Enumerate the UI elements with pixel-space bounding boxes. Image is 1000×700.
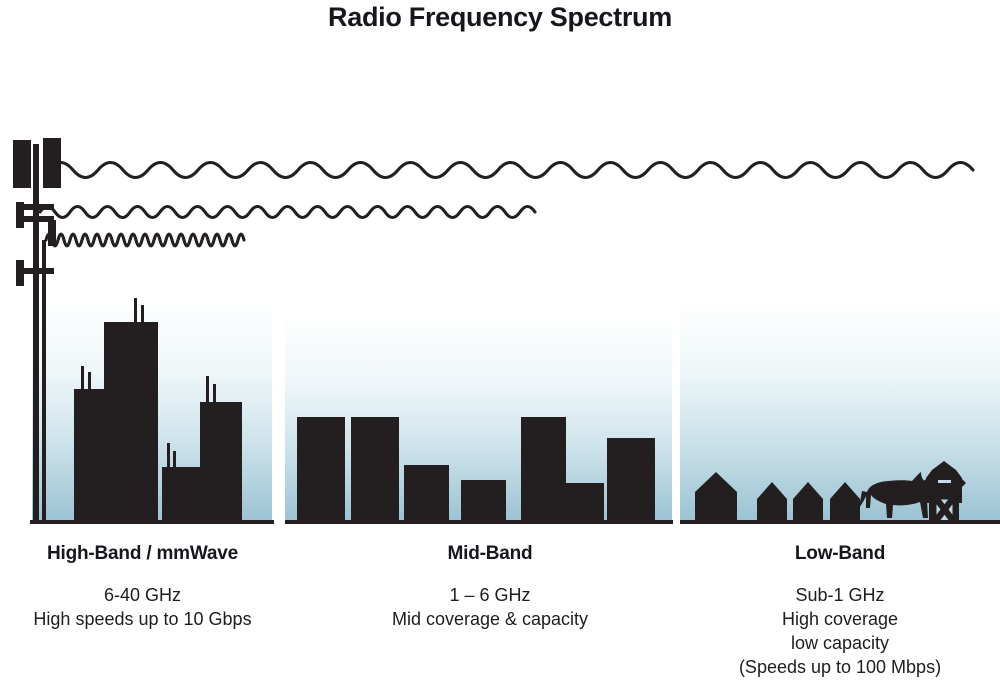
- caption-high-band-line-2: High speeds up to 10 Gbps: [0, 607, 285, 631]
- low-frequency-wave: [48, 163, 973, 178]
- caption-low-band-line-4: (Speeds up to 100 Mbps): [680, 655, 1000, 679]
- skyscraper-4: [200, 402, 242, 522]
- midband-building-3: [404, 465, 449, 522]
- tower-crossbar-low: [24, 268, 54, 274]
- skyscraper-1-spire-a: [81, 366, 84, 390]
- tower-mast-main: [33, 144, 39, 522]
- barn-door-frame-right: [953, 497, 956, 522]
- midband-building-7: [607, 438, 655, 522]
- midband-building-2: [351, 417, 399, 522]
- midband-building-6: [566, 483, 604, 522]
- tower-antenna-panel-3: [16, 202, 24, 228]
- caption-mid-band-line-1: 1 – 6 GHz: [345, 583, 635, 607]
- midband-building-1: [297, 417, 345, 522]
- skyscraper-1-spire-b: [88, 372, 91, 390]
- caption-high-band-line-1: 6-40 GHz: [0, 583, 285, 607]
- skyscraper-2-spire-b: [141, 305, 144, 323]
- mid-frequency-wave: [40, 207, 535, 218]
- tower-crossbar-top: [24, 204, 54, 210]
- caption-low-band-line-2: High coverage: [680, 607, 1000, 631]
- skyscraper-4-spire-b: [213, 384, 216, 403]
- spectrum-illustration: [0, 120, 1000, 530]
- tower-antenna-panel-4: [48, 220, 56, 246]
- midrise-3: [162, 467, 204, 522]
- skyscraper-2: [104, 322, 158, 522]
- caption-mid-band: Mid-Band 1 – 6 GHz Mid coverage & capaci…: [345, 543, 635, 631]
- caption-low-band-line-1: Sub-1 GHz: [680, 583, 1000, 607]
- tower-antenna-panel-2: [43, 138, 61, 188]
- radio-waves-group: [40, 163, 973, 247]
- midrise-3-spire-a: [167, 443, 170, 468]
- page-title: Radio Frequency Spectrum: [0, 2, 1000, 33]
- caption-high-band-heading: High-Band / mmWave: [0, 543, 285, 565]
- caption-high-band: High-Band / mmWave 6-40 GHz High speeds …: [0, 543, 285, 631]
- high-frequency-wave: [46, 234, 244, 246]
- caption-low-band-heading: Low-Band: [680, 543, 1000, 565]
- tower-antenna-panel-5: [16, 260, 24, 286]
- diagram-stage: [0, 120, 1000, 530]
- captions-row: High-Band / mmWave 6-40 GHz High speeds …: [0, 543, 1000, 700]
- barn-door-frame-top: [934, 497, 955, 500]
- tower-antenna-panel-1: [13, 140, 31, 188]
- barn-door-frame-left: [934, 497, 937, 522]
- midband-building-4: [461, 480, 506, 522]
- midrise-3-spire-b: [173, 451, 176, 468]
- skyscraper-2-spire-a: [134, 298, 137, 323]
- midband-building-5: [521, 417, 566, 522]
- caption-mid-band-heading: Mid-Band: [345, 543, 635, 565]
- ground-line: [30, 520, 1000, 524]
- infographic-root: Radio Frequency Spectrum: [0, 0, 1000, 700]
- caption-mid-band-line-2: Mid coverage & capacity: [345, 607, 635, 631]
- skyscraper-4-spire-a: [206, 376, 209, 403]
- caption-low-band: Low-Band Sub-1 GHz High coverage low cap…: [680, 543, 1000, 679]
- tower-mast-secondary: [42, 240, 46, 522]
- caption-low-band-line-3: low capacity: [680, 631, 1000, 655]
- barn-loft-window: [938, 480, 951, 483]
